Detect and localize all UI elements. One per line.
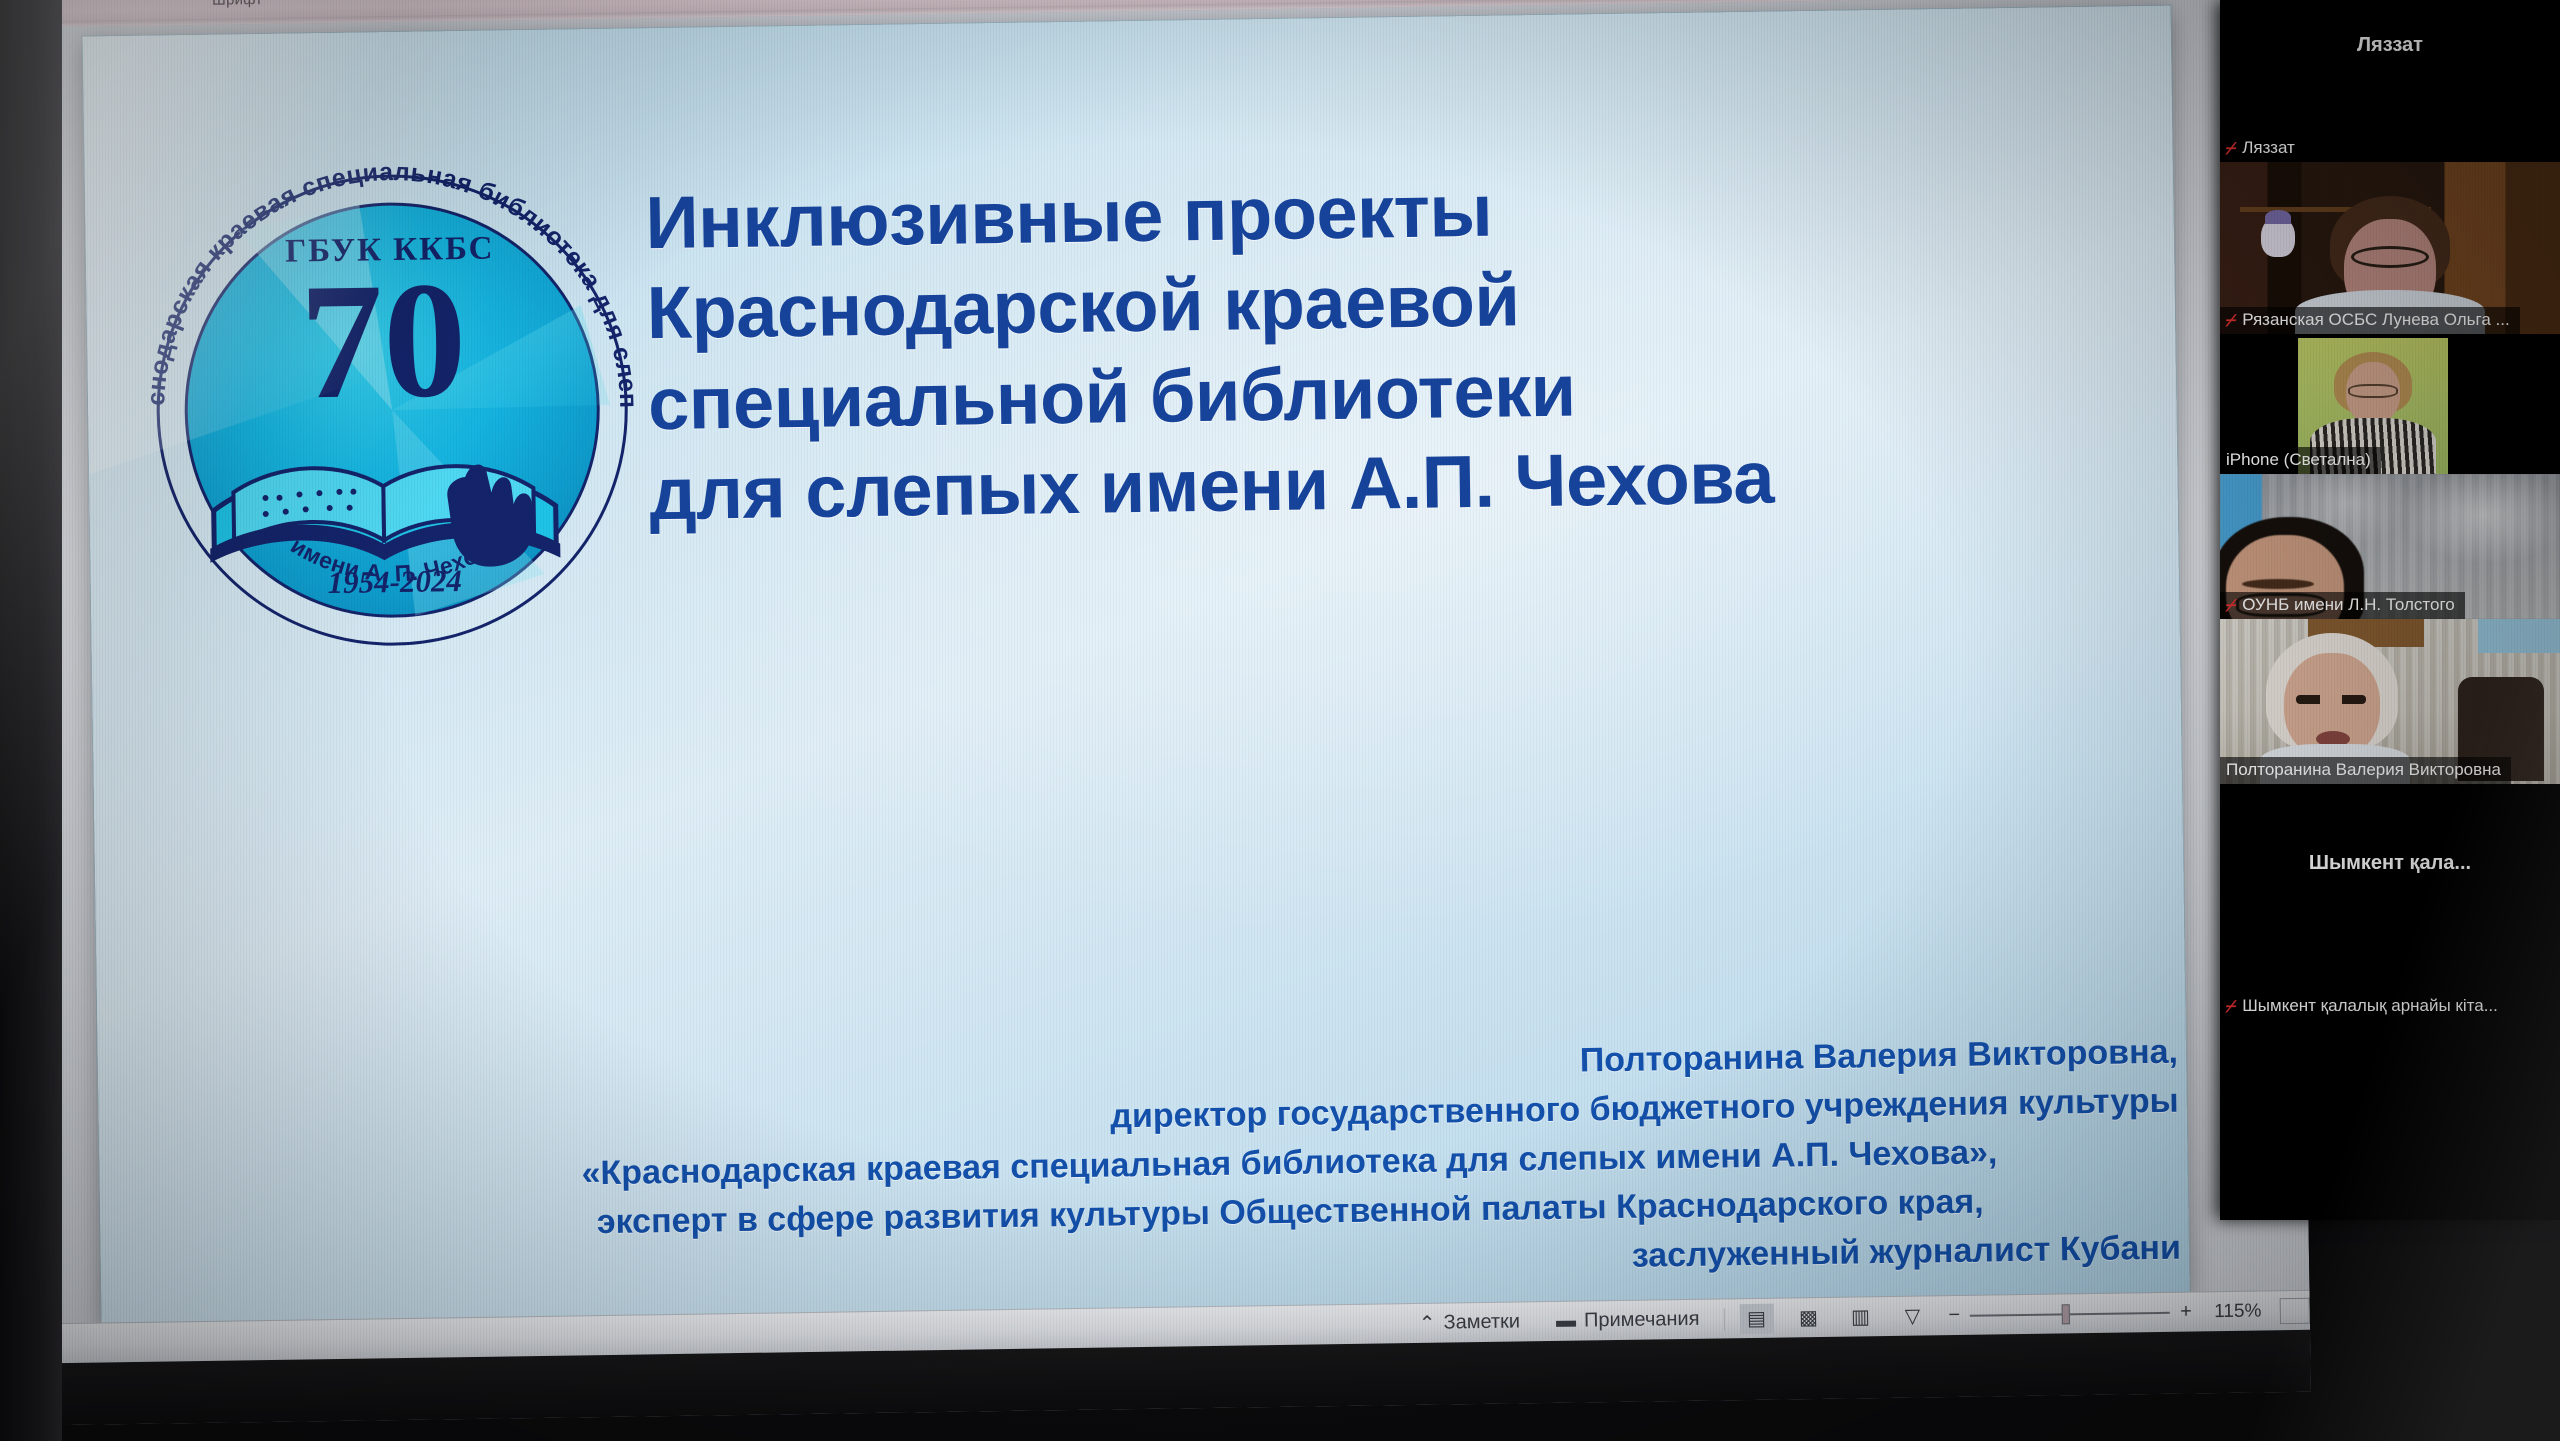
participant-nametag: iPhone (Светална): [2220, 447, 2381, 474]
notes-icon: ⌃: [1419, 1311, 1436, 1336]
participant-nametag: ⌿ Шымкент қалалық арнайы кіта...: [2220, 993, 2508, 1020]
zoom-slider-track[interactable]: [1970, 1311, 2170, 1316]
participant-nametag: ⌿ ОУНБ имени Л.Н. Толстого: [2220, 592, 2465, 619]
logo-years: 1954-2024: [327, 563, 462, 600]
window-decor: [2478, 619, 2560, 653]
participant-title-lyazzat: Ляззат: [2220, 34, 2560, 57]
zoom-out-button[interactable]: −: [1948, 1304, 1960, 1327]
ribbon-group-font: Шрифт: [212, 0, 263, 9]
participant-name: iPhone (Светална): [2226, 450, 2371, 470]
comments-label: Примечания: [1584, 1308, 1700, 1333]
participant-name: Шымкент қалалық арнайы кіта...: [2242, 996, 2498, 1016]
notes-button[interactable]: ⌃ Заметки: [1401, 1307, 1539, 1339]
reading-view-button[interactable]: ▥: [1843, 1302, 1877, 1333]
participant-tile-poltoranina[interactable]: Полторанина Валерия Викторовна: [2220, 619, 2560, 784]
eyebrow-shape: [2242, 579, 2314, 589]
slide-sorter-view-icon: ▩: [1799, 1305, 1818, 1330]
slideshow-view-button[interactable]: ▽: [1895, 1301, 1929, 1332]
zoom-in-button[interactable]: +: [2180, 1300, 2192, 1323]
font-dialog-launcher-icon[interactable]: ⌐: [510, 0, 517, 1]
zoom-participant-sidebar[interactable]: Ляззат ⌿ Ляззат ⌿ Рязанская ОСБС Лунева …: [2220, 0, 2560, 1220]
library-logo: Краснодарская краевая специальная библио…: [107, 74, 656, 682]
monitor-left-bezel: [0, 0, 62, 1441]
participant-name: Ляззат: [2242, 138, 2295, 158]
comment-bubble-icon: ▬: [1556, 1310, 1576, 1333]
participant-tile-ryazanskaya[interactable]: ⌿ Рязанская ОСБС Лунева Ольга ...: [2220, 162, 2560, 334]
participant-name: Рязанская ОСБС Лунева Ольга ...: [2242, 310, 2509, 330]
participant-tile-iphone-svetalna[interactable]: iPhone (Светална): [2220, 334, 2560, 474]
participant-nametag: Полторанина Валерия Викторовна: [2220, 757, 2511, 784]
mic-muted-icon: ⌿: [2225, 140, 2238, 157]
participant-nametag: ⌿ Рязанская ОСБС Лунева Ольга ...: [2220, 307, 2520, 334]
powerpoint-window: Шрифт ⌐ Абзац ⌐ Рисование ⌐ Редактирован…: [0, 0, 2311, 1426]
logo-anniversary-number: 70: [299, 247, 468, 433]
slide-sorter-view-button[interactable]: ▩: [1791, 1302, 1825, 1333]
notes-label: Заметки: [1443, 1310, 1520, 1334]
zoom-slider-handle[interactable]: [2062, 1304, 2070, 1324]
participant-tile-lyazzat[interactable]: ⌿ Ляззат: [2220, 90, 2560, 162]
reading-view-icon: ▥: [1851, 1304, 1870, 1329]
normal-view-button[interactable]: ▤: [1739, 1303, 1773, 1334]
participant-tile-ounb-tolstogo[interactable]: ⌿ ОУНБ имени Л.Н. Толстого: [2220, 474, 2560, 619]
slide-canvas[interactable]: Краснодарская краевая специальная библио…: [83, 6, 2190, 1327]
owl-toy-decor: [2261, 217, 2295, 257]
slide-author-block[interactable]: Полторанина Валерия Викторовна, директор…: [398, 1028, 2181, 1299]
photographed-screen: Шрифт ⌐ Абзац ⌐ Рисование ⌐ Редактирован…: [0, 0, 2560, 1441]
eyes-shape: [2296, 695, 2366, 704]
participant-nametag: ⌿ Ляззат: [2220, 135, 2305, 162]
zoom-slider[interactable]: − +: [1938, 1300, 2202, 1327]
status-bar-left-spacer: [10, 1324, 1401, 1345]
participant-tile-shymkent[interactable]: Шымкент қала... ⌿ Шымкент қалалық арнайы…: [2220, 784, 2560, 1020]
comments-button[interactable]: ▬ Примечания: [1538, 1304, 1718, 1337]
participant-name: ОУНБ имени Л.Н. Толстого: [2242, 595, 2455, 615]
mic-muted-icon: ⌿: [2225, 597, 2238, 614]
mic-muted-icon: ⌿: [2225, 312, 2238, 329]
view-controls[interactable]: ▤ ▩ ▥ ▽ −: [1730, 1295, 2310, 1334]
fit-slide-to-window-button[interactable]: [2280, 1297, 2310, 1323]
status-divider: [1723, 1308, 1724, 1330]
glasses-shape: [2348, 384, 2398, 398]
slide-title[interactable]: Инклюзивные проекты Краснодарской краево…: [645, 156, 2170, 540]
participant-name: Полторанина Валерия Викторовна: [2226, 760, 2501, 780]
zoom-percent-label[interactable]: 115%: [2202, 1300, 2274, 1323]
normal-view-icon: ▤: [1747, 1306, 1766, 1331]
mic-muted-icon: ⌿: [2225, 998, 2238, 1015]
participant-tile-lyazzat-header[interactable]: Ляззат: [2220, 0, 2560, 90]
ribbon-group-paragraph: Абзац: [708, 0, 751, 1]
slideshow-view-icon: ▽: [1905, 1304, 1921, 1329]
participant-title-shymkent: Шымкент қала...: [2220, 852, 2560, 875]
monitor-screen: Шрифт ⌐ Абзац ⌐ Рисование ⌐ Редактирован…: [0, 0, 2311, 1426]
